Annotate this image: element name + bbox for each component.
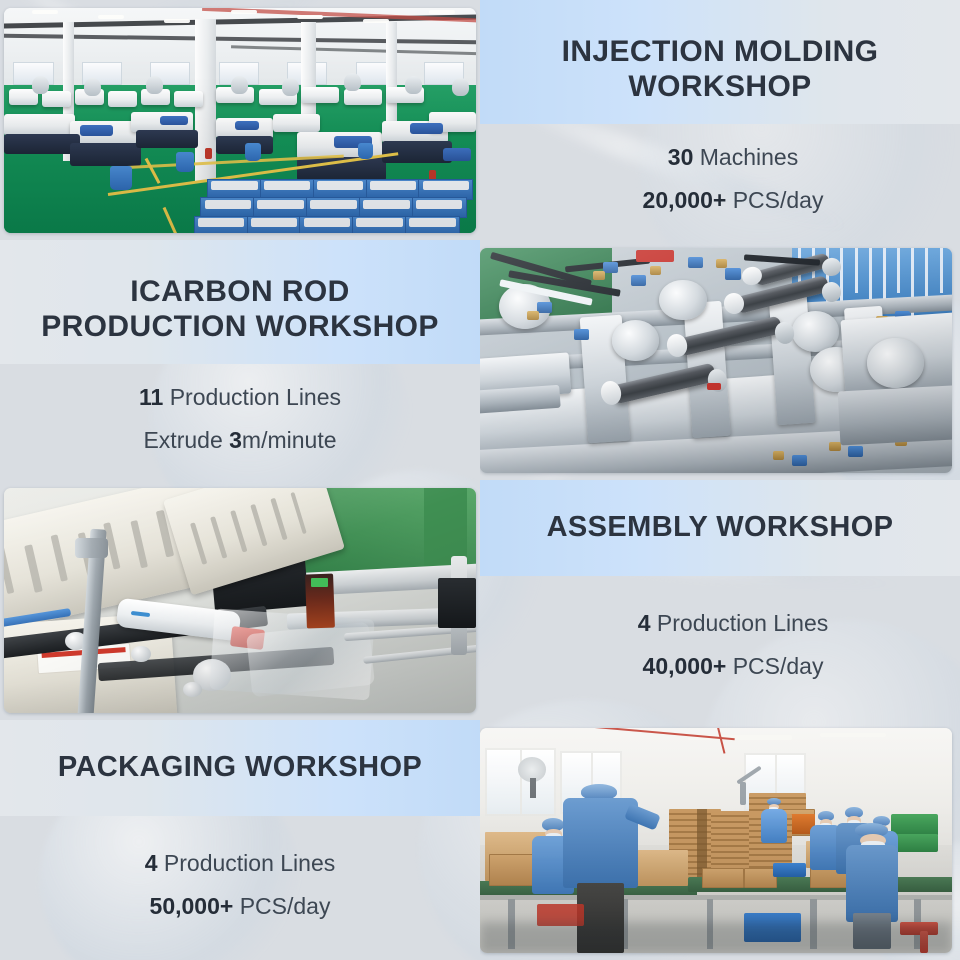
stat-row: 4 Production Lines [638,612,829,635]
stat-label: PCS/day [733,187,824,213]
panel-title: ASSEMBLY WORKSHOP [547,511,894,545]
stat-label: m/minute [242,427,337,453]
stat-value: 30 [668,144,694,170]
stat-label: Machines [700,144,798,170]
stat-value: 40,000+ [643,653,727,679]
stat-row: 11 Production Lines [139,386,341,409]
carbon-rod-title-band: ICARBON ROD PRODUCTION WORKSHOP [0,240,480,364]
injection-molding-photo-cell [0,0,480,240]
packaging-text-cell: PACKAGING WORKSHOP 4 Production Lines 50… [0,720,480,960]
stat-value: 20,000+ [643,187,727,213]
carbon-rod-text: ICARBON ROD PRODUCTION WORKSHOP 11 Produ… [0,240,480,480]
packaging-photo-cell [480,720,960,960]
packaging-text: PACKAGING WORKSHOP 4 Production Lines 50… [0,720,480,960]
stat-row: 20,000+ PCS/day [643,189,824,212]
stat-row: 4 Production Lines [145,852,336,875]
injection-molding-stats: 30 Machines 20,000+ PCS/day [480,124,960,240]
assembly-title-band: ASSEMBLY WORKSHOP [480,480,960,576]
stat-row: 40,000+ PCS/day [643,655,824,678]
stat-value: 3 [229,427,242,453]
stat-label: PCS/day [733,653,824,679]
assembly-text: ASSEMBLY WORKSHOP 4 Production Lines 40,… [480,480,960,720]
stat-label: Production Lines [164,850,335,876]
carbon-rod-text-cell: ICARBON ROD PRODUCTION WORKSHOP 11 Produ… [0,240,480,480]
assembly-photo-cell [0,480,480,720]
stat-label: Production Lines [657,610,828,636]
stat-value: 50,000+ [150,893,234,919]
stat-label: PCS/day [240,893,331,919]
assembly-stats: 4 Production Lines 40,000+ PCS/day [480,576,960,720]
panel-title: PACKAGING WORKSHOP [58,751,422,785]
workshop-showcase-grid: INJECTION MOLDING WORKSHOP 30 Machines 2… [0,0,960,960]
carbon-rod-photo-cell [480,240,960,480]
assembly-text-cell: ASSEMBLY WORKSHOP 4 Production Lines 40,… [480,480,960,720]
stat-value: 4 [145,850,158,876]
injection-molding-text: INJECTION MOLDING WORKSHOP 30 Machines 2… [480,0,960,240]
stat-value: 11 [139,384,163,410]
stat-row: 50,000+ PCS/day [150,895,331,918]
carbon-rod-machine-photo [480,248,952,473]
injection-molding-title-band: INJECTION MOLDING WORKSHOP [480,0,960,124]
stat-prefix: Extrude [143,427,229,453]
carbon-rod-stats: 11 Production Lines Extrude 3m/minute [0,364,480,480]
injection-molding-hall-photo [4,8,476,233]
packaging-stats: 4 Production Lines 50,000+ PCS/day [0,816,480,960]
stat-value: 4 [638,610,651,636]
stat-row: 30 Machines [668,146,798,169]
panel-title: INJECTION MOLDING WORKSHOP [506,34,934,104]
stat-row: Extrude 3m/minute [143,429,336,452]
assembly-packaging-machine-photo [4,488,476,713]
stat-label: Production Lines [170,384,341,410]
packaging-workshop-photo [480,728,952,953]
panel-title: ICARBON ROD PRODUCTION WORKSHOP [26,274,454,344]
injection-molding-text-cell: INJECTION MOLDING WORKSHOP 30 Machines 2… [480,0,960,240]
packaging-title-band: PACKAGING WORKSHOP [0,720,480,816]
